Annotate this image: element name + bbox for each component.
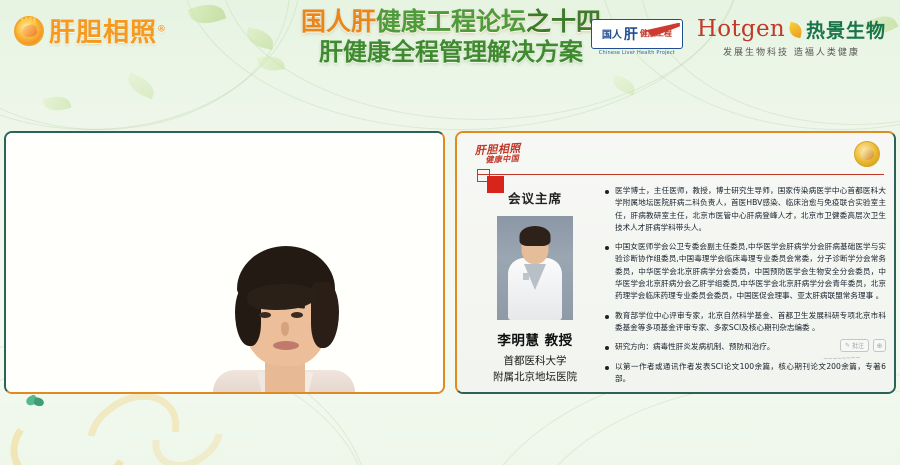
hotgen-leaf-icon [788, 21, 804, 37]
bio-bullet-text: 主持国家重点研发项目、十一五、十三五、十四五重大专项子课题，市科委重大专项、首发… [615, 392, 886, 394]
brand-logo: 肝胆相照® [14, 12, 167, 49]
bullet-dot-icon [605, 246, 609, 250]
sponsor-logos: 国人 肝 健康工程 Chinese Liver Health Project H… [591, 16, 886, 58]
speaker-org-line1: 首都医科大学 [471, 354, 599, 370]
gold-liver-emblem-icon [854, 141, 880, 167]
speaker-organization: 首都医科大学 附属北京地坛医院 [471, 354, 599, 386]
speaker-bio-bullets: 医学博士，主任医师，教授，博士研究生导师，国家传染病医学中心首都医科大学附属地坛… [605, 185, 886, 394]
bio-bullet-text: 医学博士，主任医师，教授，博士研究生导师，国家传染病医学中心首都医科大学附属地坛… [615, 185, 886, 234]
hotgen-wordmark: Hotgen [697, 18, 785, 41]
annotate-add-icon[interactable]: ⊕ [873, 339, 886, 352]
bio-bullet: 主持国家重点研发项目、十一五、十三五、十四五重大专项子课题，市科委重大专项、首发… [605, 392, 886, 394]
annotate-pen-icon: ✎ [845, 342, 850, 349]
swirl-decor [140, 391, 234, 465]
slide-divider [477, 174, 884, 175]
brand-name: 肝胆相照® [49, 12, 167, 49]
conference-stream-page: 肝胆相照® 国人肝健康工程论坛之十四 肝健康全程管理解决方案 国人 肝 健康工程… [0, 0, 900, 465]
annotation-scribble: ~~~~~~~~ [823, 354, 860, 362]
annotate-chip[interactable]: ✎ 批注 [840, 339, 869, 352]
gov-logo-gan: 肝 [624, 24, 638, 44]
bio-bullet-text: 研究方向：病毒性肝炎发病机制、预防和治疗。 [615, 341, 774, 353]
title-line-1: 国人肝健康工程论坛之十四 [281, 8, 621, 36]
title-line-2: 肝健康全程管理解决方案 [281, 39, 621, 67]
bio-bullet-text: 以第一作者或通讯作者发表SCI论文100余篇，核心期刊论文200余篇，专著6部。 [615, 361, 886, 386]
participant-video-panel[interactable] [4, 131, 445, 394]
title-segment-green: 健康工程论坛 [376, 7, 526, 36]
video-feed [6, 133, 443, 392]
speaker-org-line2: 附属北京地坛医院 [471, 370, 599, 386]
annotation-toolbar[interactable]: ✎ 批注 ⊕ [840, 339, 886, 352]
sponsor-gov-logo: 国人 肝 健康工程 Chinese Liver Health Project [591, 19, 683, 56]
liver-badge-icon [14, 16, 44, 46]
bullet-dot-icon [605, 346, 609, 350]
speaker-name: 李明慧 教授 [471, 329, 599, 349]
bio-bullet: 医学博士，主任医师，教授，博士研究生导师，国家传染病医学中心首都医科大学附属地坛… [605, 185, 886, 234]
gov-logo-mark: 国人 肝 健康工程 [591, 19, 683, 49]
bio-bullet: 以第一作者或通讯作者发表SCI论文100余篇，核心期刊论文200余篇，专著6部。 [605, 361, 886, 386]
slide-watermark-line2: 健康中国 [485, 154, 521, 164]
sponsor-hotgen-logo: Hotgen 热景生物 发展生物科技 造福人类健康 [697, 16, 886, 58]
bio-bullet-text: 中国女医师学会公卫专委会副主任委员,中华医学会肝病学分会肝病基础医学与实验诊断协… [615, 241, 886, 302]
gov-logo-en: Chinese Liver Health Project [599, 50, 675, 56]
chair-label: 会议主席 [471, 188, 599, 207]
bullet-dot-icon [605, 366, 609, 370]
speaker-portrait [497, 216, 573, 320]
title-segment-orange: 国人肝 [301, 7, 376, 36]
page-title: 国人肝健康工程论坛之十四 肝健康全程管理解决方案 [281, 8, 621, 67]
slide-content: 肝胆相照 健康中国 会议主席 李明慧 教授 首都 [457, 133, 894, 392]
annotate-label: 批注 [852, 341, 864, 350]
title-segment-dark: 之十四 [526, 7, 601, 36]
hotgen-tagline: 发展生物科技 造福人类健康 [723, 45, 860, 58]
trademark-mark: ® [157, 24, 167, 34]
gov-logo-cn: 国人 [602, 26, 622, 41]
page-header: 肝胆相照® 国人肝健康工程论坛之十四 肝健康全程管理解决方案 国人 肝 健康工程… [0, 0, 900, 104]
bio-bullet-text: 教育部学位中心评审专家，北京自然科学基金、首都卫生发展科研专项北京市科委基金等多… [615, 310, 886, 335]
swirl-decor [0, 385, 140, 465]
bullet-dot-icon [605, 315, 609, 319]
hotgen-cn-name: 热景生物 [806, 16, 886, 43]
shared-slide-panel[interactable]: 肝胆相照 健康中国 会议主席 李明慧 教授 首都 [455, 131, 896, 394]
chair-column: 会议主席 李明慧 教授 首都医科大学 附属北京地坛医院 [471, 188, 599, 386]
bio-bullet: 教育部学位中心评审专家，北京自然科学基金、首都卫生发展科研专项北京市科委基金等多… [605, 310, 886, 335]
bullet-dot-icon [605, 190, 609, 194]
bio-bullet: 中国女医师学会公卫专委会副主任委员,中华医学会肝病学分会肝病基础医学与实验诊断协… [605, 241, 886, 302]
slide-watermark-logo: 肝胆相照 健康中国 [475, 143, 522, 165]
